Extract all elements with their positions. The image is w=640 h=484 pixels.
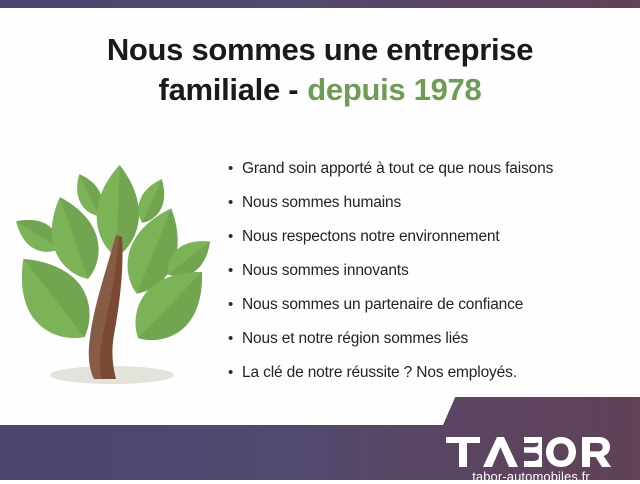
list-item: • La clé de notre réussite ? Nos employé… xyxy=(228,364,628,398)
list-item-label: La clé de notre réussite ? Nos employés. xyxy=(242,364,517,382)
list-item: • Nous sommes un partenaire de confiance xyxy=(228,296,628,330)
bullet-icon: • xyxy=(228,263,242,278)
headline-line-2: familiale -depuis 1978 xyxy=(0,70,640,110)
bullet-icon: • xyxy=(228,229,242,244)
bullet-icon: • xyxy=(228,365,242,380)
list-item-label: Nous et notre région sommes liés xyxy=(242,330,468,348)
page-title: Nous sommes une entreprise familiale -de… xyxy=(0,30,640,109)
list-item: • Nous respectons notre environnement xyxy=(228,228,628,262)
list-item: • Nous et notre région sommes liés xyxy=(228,330,628,364)
headline-line-1: Nous sommes une entreprise xyxy=(107,32,533,67)
bullet-icon: • xyxy=(228,297,242,312)
list-item-label: Nous sommes un partenaire de confiance xyxy=(242,296,523,314)
list-item: • Grand soin apporté à tout ce que nous … xyxy=(228,160,628,194)
bullet-icon: • xyxy=(228,195,242,210)
benefits-list: • Grand soin apporté à tout ce que nous … xyxy=(228,160,628,398)
top-accent-band xyxy=(0,0,640,8)
list-item-label: Grand soin apporté à tout ce que nous fa… xyxy=(242,160,553,178)
list-item-label: Nous sommes humains xyxy=(242,194,401,212)
tree-logo-illustration xyxy=(8,163,222,398)
footer-shape xyxy=(0,397,640,480)
headline-line-2-static: familiale - xyxy=(159,72,299,107)
bullet-icon: • xyxy=(228,331,242,346)
footer-bar: tabor-automobiles.fr xyxy=(0,425,640,480)
bullet-icon: • xyxy=(228,161,242,176)
list-item: • Nous sommes humains xyxy=(228,194,628,228)
list-item-label: Nous respectons notre environnement xyxy=(242,228,500,246)
headline-accent: depuis 1978 xyxy=(307,72,481,107)
list-item: • Nous sommes innovants xyxy=(228,262,628,296)
list-item-label: Nous sommes innovants xyxy=(242,262,409,280)
